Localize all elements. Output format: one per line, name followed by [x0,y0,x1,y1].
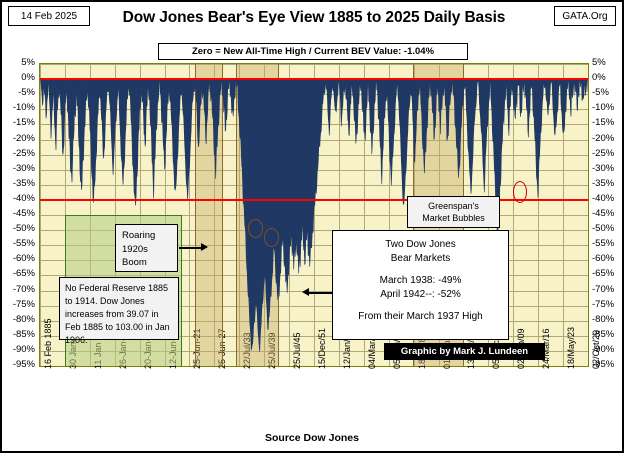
y-axis-tick-label: 0% [2,72,35,83]
y-axis-tick-label: -25% [2,148,35,159]
roaring-line-1: Roaring [122,229,177,243]
y-axis-tick-label-right: -80% [592,314,614,325]
y-axis-tick-label: -85% [2,329,35,340]
y-axis-tick-label-right: -55% [592,238,614,249]
y-axis-tick-label: -10% [2,102,35,113]
y-axis-tick-label-right: 0% [592,72,606,83]
y-axis-tick-label-right: -30% [592,163,614,174]
y-axis-tick-label-right: 5% [592,57,606,68]
y-axis-tick-label: -80% [2,314,35,325]
chart-screenshot: 14 Feb 2025 GATA.Org Dow Jones Bear's Ey… [0,0,624,453]
y-axis-tick-label-right: -40% [592,193,614,204]
roaring-line-2: 1920s [122,243,177,257]
y-axis-tick-label: -20% [2,133,35,144]
page-title: Dow Jones Bear's Eye View 1885 to 2025 D… [92,6,536,30]
bear-item-1: March 1938: -49% [333,274,508,288]
y-axis-tick-label-right: -75% [592,299,614,310]
y-axis-tick-label-right: -15% [592,117,614,128]
y-axis-tick-label-right: -50% [592,223,614,234]
y-axis-tick-label-right: -5% [592,87,609,98]
bear-title-1: Two Dow Jones [333,238,508,252]
y-axis-tick-label: -40% [2,193,35,204]
y-axis-tick-label: -35% [2,178,35,189]
y-axis-tick-label-right: -65% [592,268,614,279]
y-axis-tick-label: -65% [2,268,35,279]
y-axis-tick-label: 5% [2,57,35,68]
spacer [333,302,508,310]
credit-badge: Graphic by Mark J. Lundeen [384,343,545,360]
y-axis-tick-label-right: -20% [592,133,614,144]
y-axis-tick-label: -30% [2,163,35,174]
y-axis-tick-label: -5% [2,87,35,98]
marker-ellipse [248,219,263,238]
annotation-no-federal-reserve: No Federal Reserve 1885 to 1914. Dow Jon… [59,277,179,340]
x-axis-title: Source Dow Jones [2,432,622,444]
greenspan-line-2: Market Bubbles [422,212,485,224]
y-axis-tick-label-right: -60% [592,253,614,264]
bear-item-2: April 1942--: -52% [333,288,508,302]
date-badge: 14 Feb 2025 [8,6,90,26]
annotation-greenspan-bubbles: Greenspan's Market Bubbles [407,196,500,228]
source-badge: GATA.Org [554,6,616,26]
x-axis-tick-label: 02/Oct/29 [591,330,601,369]
y-axis-tick-label-right: -70% [592,284,614,295]
y-axis-tick-label: -75% [2,299,35,310]
y-axis-tick-label: -15% [2,117,35,128]
spacer [333,266,508,274]
y-axis-tick-label: -50% [2,223,35,234]
greenspan-line-1: Greenspan's [428,200,479,212]
y-axis-tick-label-right: -35% [592,178,614,189]
y-axis-tick-label-right: -25% [592,148,614,159]
annotation-roaring-twenties: Roaring 1920s Boom [115,224,178,272]
marker-ellipse [264,228,279,247]
reference-line-zero [40,78,588,80]
marker-ellipse [513,181,527,203]
zero-note-label: Zero = New All-Time High / Current BEV V… [158,43,468,60]
bear-title-2: Bear Markets [333,252,508,266]
roaring-line-3: Boom [122,256,177,270]
y-axis-tick-label: -60% [2,253,35,264]
y-axis-tick-label-right: -45% [592,208,614,219]
y-axis-tick-label-right: -10% [592,102,614,113]
reference-line-minus40 [40,199,588,201]
y-axis-tick-label: -70% [2,284,35,295]
y-axis-tick-label: -95% [2,359,35,370]
y-axis-tick-label: -55% [2,238,35,249]
annotation-two-bear-markets: Two Dow Jones Bear Markets March 1938: -… [332,230,509,340]
y-axis-tick-label: -45% [2,208,35,219]
bear-footer: From their March 1937 High [333,310,508,324]
y-axis-tick-label: -90% [2,344,35,355]
